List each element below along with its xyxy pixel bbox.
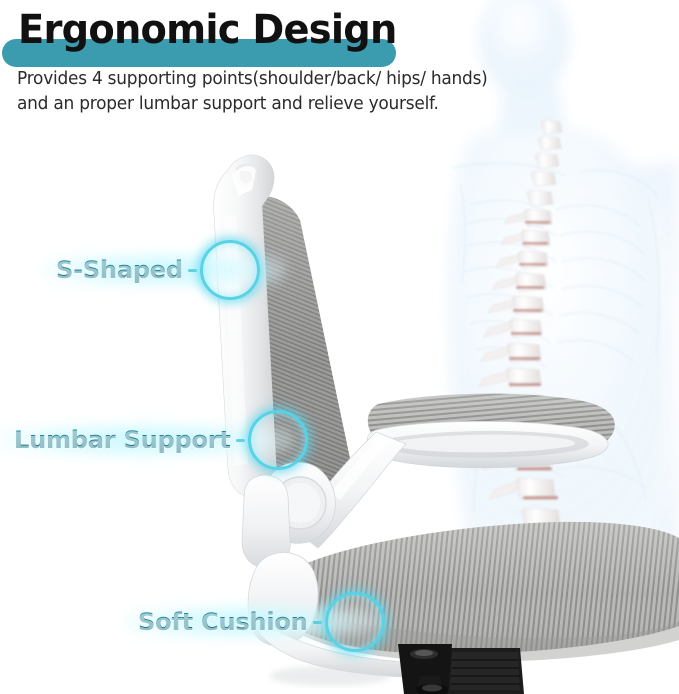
callout-label: S-Shaped: [56, 256, 183, 284]
callout-label: Soft Cushion: [138, 608, 308, 636]
callout-ring-marker: [200, 240, 260, 300]
page-title: Ergonomic Design: [18, 6, 397, 54]
callout-ring-marker: [248, 410, 308, 470]
callout-label: Lumbar Support: [14, 426, 231, 454]
page-subtitle: Provides 4 supporting points(shoulder/ba…: [17, 67, 609, 117]
page-subtitle-line-1: Provides 4 supporting points(shoulder/ba…: [17, 67, 609, 92]
callout-connector-line: [236, 439, 245, 442]
callout-lumbar-support: Lumbar Support: [14, 413, 308, 467]
callout-s-shaped: S-Shaped: [56, 243, 260, 297]
callout-ring-marker: [325, 592, 385, 652]
chair-base: [398, 644, 524, 694]
callout-soft-cushion: Soft Cushion: [138, 595, 385, 649]
product-infographic: Ergonomic Design Provides 4 supporting p…: [0, 0, 679, 694]
header: Ergonomic Design Provides 4 supporting p…: [0, 0, 679, 132]
callout-connector-line: [313, 621, 322, 624]
callout-connector-line: [188, 269, 197, 272]
page-subtitle-line-2: and an proper lumbar support and relieve…: [17, 92, 609, 117]
